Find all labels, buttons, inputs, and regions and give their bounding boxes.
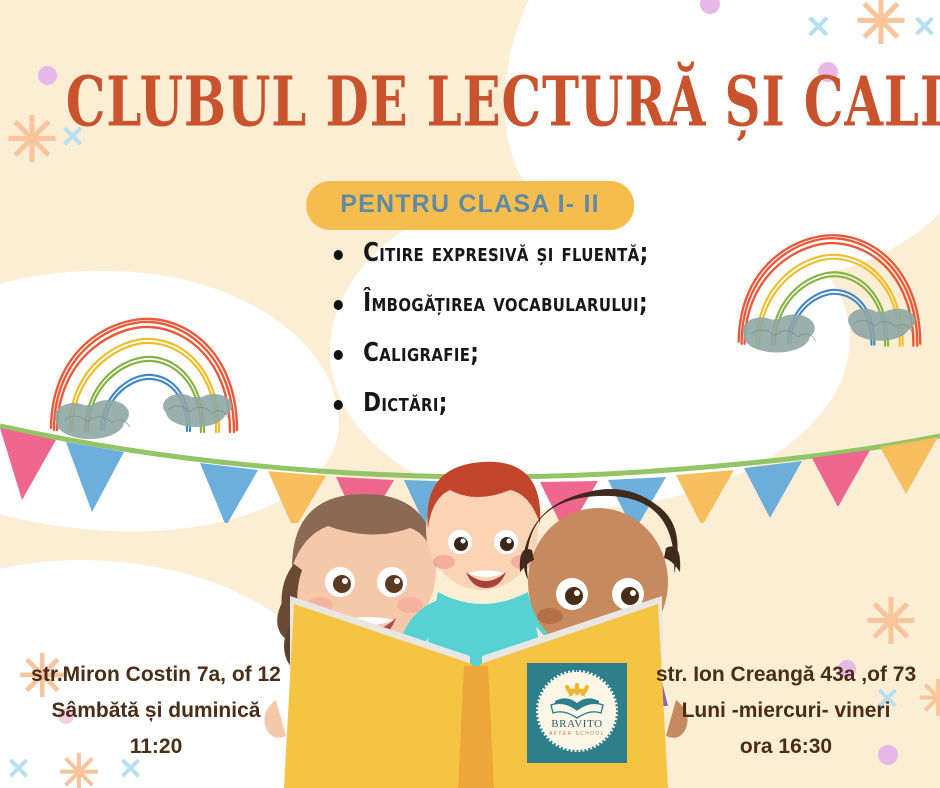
location-right: str. Ion Creangă 43a ,of 73 Luni -miercu… xyxy=(636,657,936,765)
location-left-address: str.Miron Costin 7a, of 12 xyxy=(6,657,306,693)
cross-icon: ✕ xyxy=(912,10,937,45)
asterisk-icon: ✳ xyxy=(6,110,58,172)
location-right-time: ora 16:30 xyxy=(636,729,936,765)
location-left: str.Miron Costin 7a, of 12 Sâmbătă și du… xyxy=(6,657,306,765)
asterisk-icon: ✳ xyxy=(865,592,917,654)
asterisk-icon: ✳ xyxy=(855,0,907,54)
logo-tagline: AFTER SCHOOL xyxy=(527,731,627,737)
dot-icon xyxy=(700,0,720,14)
list-item: Citire expresivă și fluentă; xyxy=(330,238,808,268)
location-right-days: Luni -miercuri- vineri xyxy=(636,693,936,729)
list-item: Îmbogățirea vocabularului; xyxy=(330,288,808,318)
bravito-logo: BRAVITO AFTER SCHOOL xyxy=(527,663,627,763)
cross-icon: ✕ xyxy=(805,8,832,46)
list-item: Caligrafie; xyxy=(330,338,808,368)
location-left-time: 11:20 xyxy=(6,729,306,765)
location-left-days: Sâmbătă și duminică xyxy=(6,693,306,729)
location-right-address: str. Ion Creangă 43a ,of 73 xyxy=(636,657,936,693)
dot-icon xyxy=(38,66,57,85)
subtitle-badge: PENTRU CLASA I- II xyxy=(306,181,634,230)
poster-canvas: ✳ ✕ ✕ ✳ ✕ ✳ ✕ ✳ ✕ ✳ ✕ ✳ xyxy=(0,0,940,788)
poster-title: CLUBUL DE LECTURĂ ȘI CALIGRAFIE xyxy=(66,62,874,142)
logo-name: BRAVITO xyxy=(527,718,627,730)
open-book-logo-icon xyxy=(549,681,605,721)
